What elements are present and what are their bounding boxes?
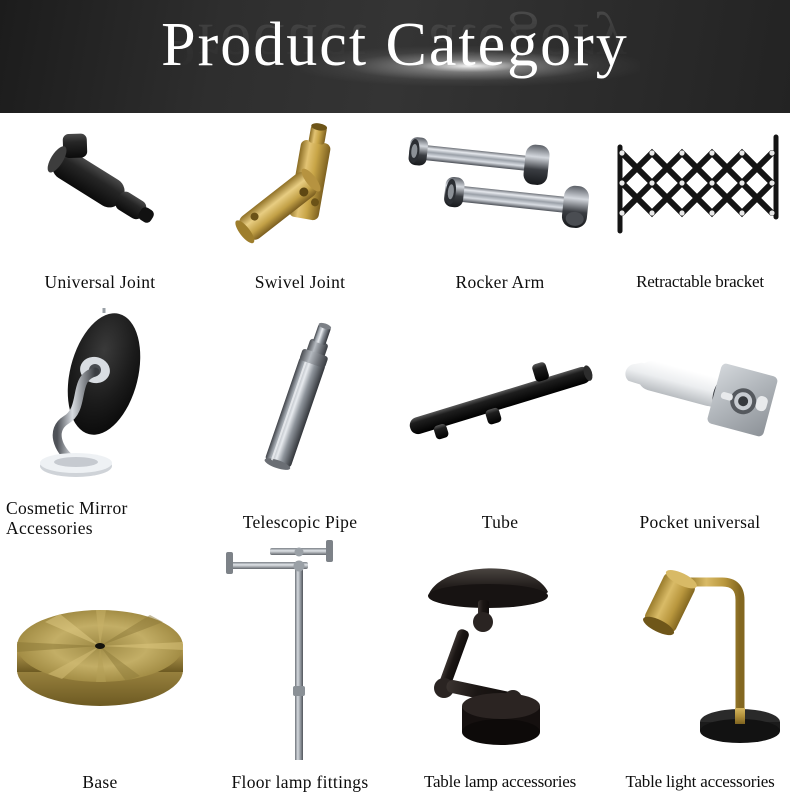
product-cell-floor-lamp-fittings[interactable]: Floor lamp fittings bbox=[200, 540, 400, 800]
floor-lamp-fittings-image bbox=[200, 540, 400, 758]
product-label: Pocket universal bbox=[600, 512, 800, 532]
product-cell-tube[interactable]: Tube bbox=[400, 300, 600, 540]
product-cell-cosmetic-mirror[interactable]: Cosmetic Mirror Accessories bbox=[0, 300, 200, 540]
product-cell-telescopic-pipe[interactable]: Telescopic Pipe bbox=[200, 300, 400, 540]
cosmetic-mirror-image bbox=[0, 300, 200, 498]
page-title-reflection: Product Category bbox=[0, 6, 790, 84]
product-row: Base bbox=[0, 540, 800, 800]
product-cell-pocket-universal[interactable]: Pocket universal bbox=[600, 300, 800, 540]
product-label: Rocker Arm bbox=[400, 272, 600, 292]
product-row: Universal Joint bbox=[0, 113, 800, 300]
table-lamp-accessories-image bbox=[400, 540, 600, 758]
product-cell-retractable-bracket[interactable]: Retractable bracket bbox=[600, 113, 800, 300]
tube-image bbox=[400, 300, 600, 498]
product-label: Table lamp accessories bbox=[400, 772, 600, 792]
product-label: Telescopic Pipe bbox=[200, 512, 400, 532]
rocker-arm-image bbox=[400, 113, 600, 258]
telescopic-pipe-image bbox=[200, 300, 400, 498]
pocket-universal-image bbox=[600, 300, 800, 498]
product-cell-rocker-arm[interactable]: Rocker Arm bbox=[400, 113, 600, 300]
product-label: Base bbox=[0, 772, 200, 792]
product-cell-base[interactable]: Base bbox=[0, 540, 200, 800]
product-cell-table-light-accessories[interactable]: Table light accessories bbox=[600, 540, 800, 800]
product-cell-table-lamp-accessories[interactable]: Table lamp accessories bbox=[400, 540, 600, 800]
product-category-grid: Universal Joint bbox=[0, 113, 800, 800]
base-image bbox=[0, 540, 200, 758]
product-label: Retractable bracket bbox=[600, 272, 800, 292]
product-label: Universal Joint bbox=[0, 272, 200, 292]
product-label: Table light accessories bbox=[600, 772, 800, 792]
page-header-banner: Product Category Product Category bbox=[0, 0, 790, 113]
product-label: Cosmetic Mirror Accessories bbox=[0, 498, 200, 538]
product-cell-swivel-joint[interactable]: Swivel Joint bbox=[200, 113, 400, 300]
product-row: Cosmetic Mirror Accessories bbox=[0, 300, 800, 540]
product-label: Swivel Joint bbox=[200, 272, 400, 292]
product-label: Tube bbox=[400, 512, 600, 532]
product-label: Floor lamp fittings bbox=[200, 772, 400, 792]
universal-joint-image bbox=[0, 113, 200, 258]
swivel-joint-image bbox=[200, 113, 400, 258]
product-cell-universal-joint[interactable]: Universal Joint bbox=[0, 113, 200, 300]
table-light-accessories-image bbox=[600, 540, 800, 758]
retractable-bracket-image bbox=[600, 113, 800, 258]
